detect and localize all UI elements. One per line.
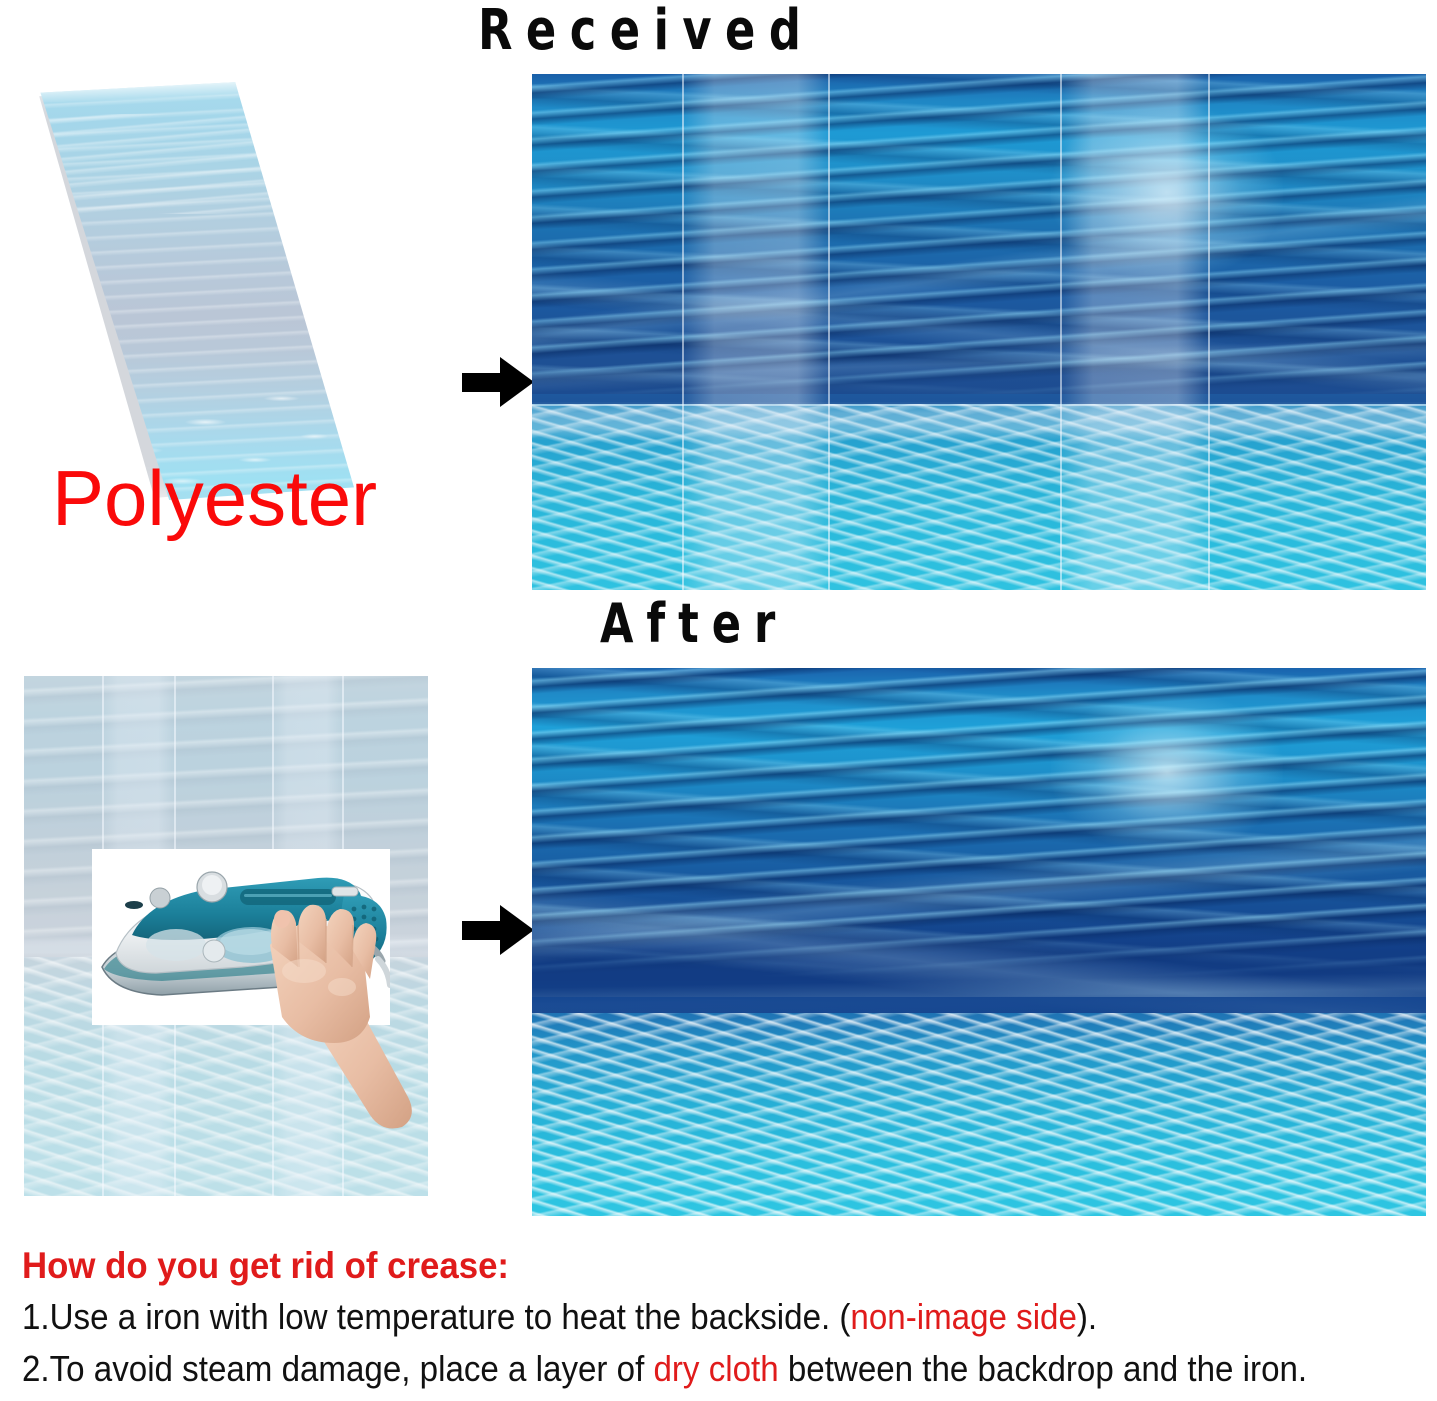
right-arrow-icon (462, 357, 534, 407)
hand-icon (242, 901, 432, 1131)
instruction-line-1: 1.Use a iron with low temperature to hea… (22, 1293, 1310, 1341)
seabed-caustics (532, 404, 1426, 590)
light-rays (532, 115, 1426, 435)
arrow-head (500, 905, 534, 955)
arrow-shaft (462, 921, 504, 940)
instruction-2-prefix: 2.To avoid steam damage, place a layer o… (22, 1348, 653, 1389)
after-backdrop-photo (532, 668, 1426, 1216)
polyester-swatch-image (6, 76, 426, 516)
instruction-1-suffix: ). (1077, 1296, 1097, 1337)
swatch-fabric (24, 80, 354, 500)
steam-iron-image (92, 849, 390, 1025)
instruction-2-suffix: between the backdrop and the iron. (779, 1348, 1307, 1389)
page-title-received: Received (478, 0, 814, 64)
arrow-head (500, 357, 534, 407)
material-label: Polyester (52, 455, 377, 541)
instructions-heading: How do you get rid of crease: (22, 1243, 1338, 1289)
received-backdrop-photo (532, 74, 1426, 590)
instruction-1-prefix: 1.Use a iron with low temperature to hea… (22, 1296, 850, 1337)
seabed-caustics (532, 1013, 1426, 1216)
page-title-after: After (600, 592, 788, 656)
instruction-line-2: 2.To avoid steam damage, place a layer o… (22, 1345, 1310, 1393)
instruction-1-highlight: non-image side (850, 1296, 1076, 1337)
right-arrow-icon (462, 905, 534, 955)
instruction-2-highlight: dry cloth (653, 1348, 778, 1389)
swatch-top-edge (37, 74, 242, 103)
care-instructions: How do you get rid of crease: 1.Use a ir… (22, 1243, 1422, 1393)
arrow-shaft (462, 373, 504, 392)
